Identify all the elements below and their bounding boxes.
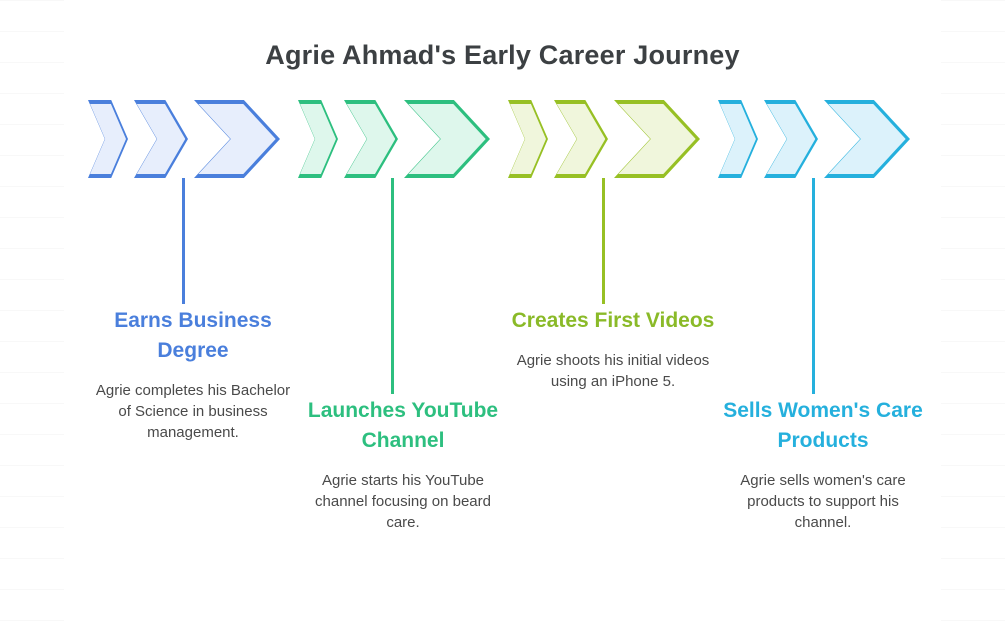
chevron-arrow-fill (720, 104, 756, 174)
milestone-text-creates-first-videos: Creates First VideosAgrie shoots his ini… (508, 306, 718, 392)
chevron-arrow-fill (408, 104, 485, 174)
chevron-arrow-icon (344, 100, 398, 178)
milestone-description: Agrie sells women's care products to sup… (718, 470, 928, 534)
milestone-description: Agrie completes his Bachelor of Science … (88, 380, 298, 444)
chevron-arrow-icon (298, 100, 338, 178)
chevron-arrow-icon (614, 100, 700, 178)
chevron-arrow-icon (764, 100, 818, 178)
chevron-arrow-fill (828, 104, 905, 174)
chevron-arrow-icon (88, 100, 128, 178)
chevron-arrow-icon (194, 100, 280, 178)
milestone-text-sells-womens-care-products: Sells Women's Care ProductsAgrie sells w… (718, 396, 928, 534)
chevron-arrow-icon (134, 100, 188, 178)
milestone-sells-womens-care-products: Sells Women's Care ProductsAgrie sells w… (718, 100, 928, 178)
connector-line-launches-youtube-channel (391, 178, 394, 394)
background-grid-left (0, 0, 64, 644)
milestone-description: Agrie shoots his initial videos using an… (508, 350, 718, 393)
chevron-arrow-icon (508, 100, 548, 178)
chevron-group-earns-business-degree (88, 100, 280, 178)
milestone-text-earns-business-degree: Earns Business DegreeAgrie completes his… (88, 306, 298, 444)
chevron-arrow-icon (554, 100, 608, 178)
chevron-group-creates-first-videos (508, 100, 700, 178)
milestone-heading: Creates First Videos (508, 306, 718, 336)
milestone-description: Agrie starts his YouTube channel focusin… (298, 470, 508, 534)
chevron-arrow-icon (718, 100, 758, 178)
chevron-arrow-fill (90, 104, 126, 174)
infographic-canvas: Agrie Ahmad's Early Career Journey Earns… (0, 0, 1005, 644)
chevron-group-sells-womens-care-products (718, 100, 910, 178)
milestone-earns-business-degree: Earns Business DegreeAgrie completes his… (88, 100, 298, 178)
chevron-arrow-fill (618, 104, 695, 174)
chevron-arrow-fill (300, 104, 336, 174)
milestone-heading: Launches YouTube Channel (298, 396, 508, 456)
connector-line-creates-first-videos (602, 178, 605, 304)
background-grid-right (941, 0, 1005, 644)
chevron-arrow-fill (198, 104, 275, 174)
chevron-arrow-fill (767, 104, 816, 174)
milestone-heading: Sells Women's Care Products (718, 396, 928, 456)
milestone-heading: Earns Business Degree (88, 306, 298, 366)
connector-line-sells-womens-care-products (812, 178, 815, 394)
chevron-arrow-icon (824, 100, 910, 178)
page-title: Agrie Ahmad's Early Career Journey (0, 40, 1005, 71)
chevron-arrow-fill (137, 104, 186, 174)
chevron-arrow-fill (510, 104, 546, 174)
connector-line-earns-business-degree (182, 178, 185, 304)
chevron-arrow-fill (557, 104, 606, 174)
chevron-arrow-fill (347, 104, 396, 174)
milestone-text-launches-youtube-channel: Launches YouTube ChannelAgrie starts his… (298, 396, 508, 534)
milestone-launches-youtube-channel: Launches YouTube ChannelAgrie starts his… (298, 100, 508, 178)
chevron-arrow-icon (404, 100, 490, 178)
chevron-group-launches-youtube-channel (298, 100, 490, 178)
milestone-creates-first-videos: Creates First VideosAgrie shoots his ini… (508, 100, 718, 178)
